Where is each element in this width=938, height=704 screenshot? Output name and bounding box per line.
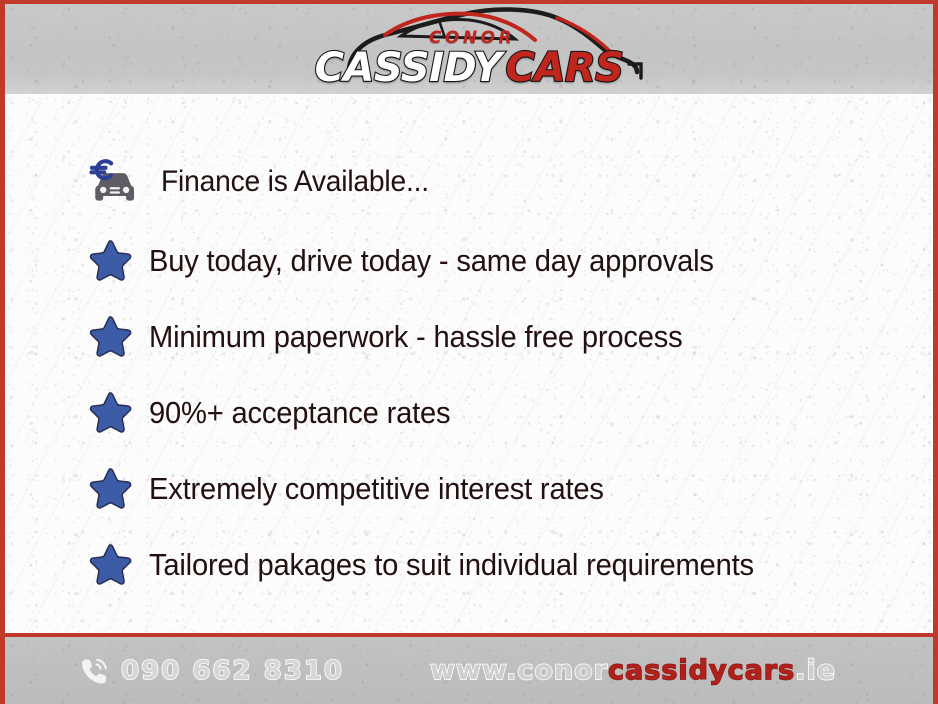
phone-contact[interactable]: 090 662 8310 bbox=[77, 654, 344, 688]
list-item: Buy today, drive today - same day approv… bbox=[83, 234, 903, 288]
star-icon bbox=[83, 538, 137, 592]
promo-poster: CONOR CASSIDYCARS bbox=[0, 0, 938, 704]
benefits-list: Finance is Available... Buy today, drive… bbox=[83, 152, 903, 592]
star-icon bbox=[83, 462, 137, 516]
star-icon bbox=[83, 310, 137, 364]
list-item: Minimum paperwork - hassle free process bbox=[83, 310, 903, 364]
list-item: Extremely competitive interest rates bbox=[83, 462, 903, 516]
list-item: 90%+ acceptance rates bbox=[83, 386, 903, 440]
header-banner: CONOR CASSIDYCARS bbox=[5, 0, 933, 94]
content-area: Finance is Available... Buy today, drive… bbox=[5, 94, 933, 637]
list-item-label: 90%+ acceptance rates bbox=[149, 395, 450, 431]
logo-wordmark: CONOR CASSIDYCARS bbox=[289, 30, 649, 88]
logo-main-text: CASSIDYCARS bbox=[289, 48, 649, 88]
euro-car-finance-icon bbox=[83, 152, 143, 212]
brand-logo[interactable]: CONOR CASSIDYCARS bbox=[289, 2, 649, 94]
website-part-1: www.conor bbox=[430, 655, 608, 686]
list-item: Finance is Available... bbox=[83, 152, 903, 212]
website-url[interactable]: www.conorcassidycars.ie bbox=[430, 655, 836, 686]
list-item-label: Tailored pakages to suit individual requ… bbox=[149, 547, 754, 583]
footer-bar: 090 662 8310 www.conorcassidycars.ie bbox=[5, 633, 933, 704]
website-part-3: .ie bbox=[795, 655, 836, 686]
website-part-2: cassidycars bbox=[608, 655, 795, 686]
list-item-label: Buy today, drive today - same day approv… bbox=[149, 243, 714, 279]
list-item-label: Minimum paperwork - hassle free process bbox=[149, 319, 683, 355]
star-icon bbox=[83, 386, 137, 440]
phone-number-text: 090 662 8310 bbox=[121, 656, 344, 686]
list-item-label: Extremely competitive interest rates bbox=[149, 471, 604, 507]
list-item-label: Finance is Available... bbox=[161, 165, 429, 199]
logo-cassidy-text: CASSIDY bbox=[315, 45, 502, 91]
star-icon bbox=[83, 234, 137, 288]
logo-cars-text: CARS bbox=[506, 45, 624, 91]
phone-call-icon bbox=[77, 654, 111, 688]
list-item: Tailored pakages to suit individual requ… bbox=[83, 538, 903, 592]
